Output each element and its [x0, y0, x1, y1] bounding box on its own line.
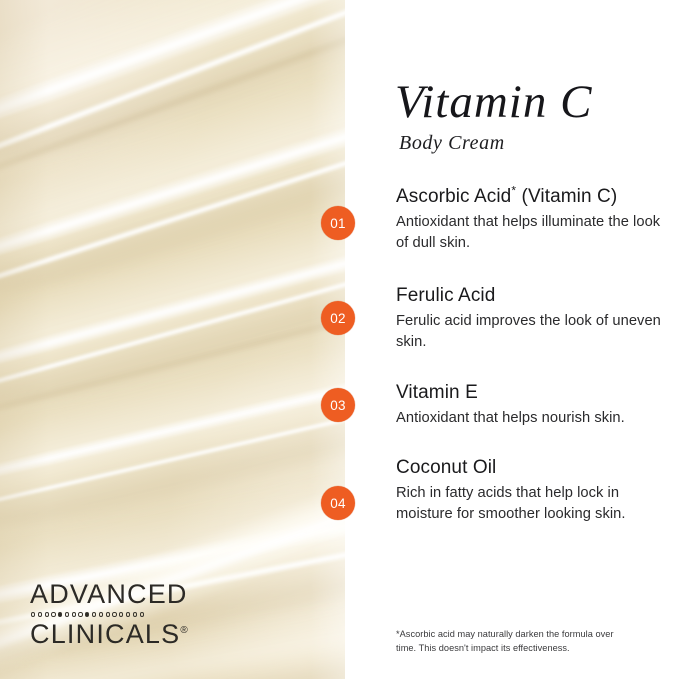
ingredient-description-01: Antioxidant that helps illuminate the lo… [396, 212, 676, 254]
ingredient-title-text-01: Ascorbic Acid [396, 186, 511, 207]
brand-logo-dot-divider [31, 611, 188, 618]
ingredient-title-suffix-01: (Vitamin C) [516, 186, 617, 207]
logo-dot-filled [85, 612, 89, 616]
logo-dot [133, 612, 137, 616]
logo-dot [92, 612, 96, 616]
logo-dot [31, 612, 35, 616]
product-title-block: Vitamin C Body Cream [395, 78, 592, 155]
panel-vignette [0, 0, 345, 679]
ingredient-title-text-03: Vitamin E [396, 382, 478, 403]
brand-logo-line2: CLINICALS [30, 619, 180, 649]
ingredient-badge-02: 02 [321, 301, 355, 335]
logo-dot [126, 612, 130, 616]
ingredient-title-text-02: Ferulic Acid [396, 285, 495, 306]
ingredient-item-04: Coconut Oil Rich in fatty acids that hel… [396, 457, 676, 525]
ingredient-description-03: Antioxidant that helps nourish skin. [396, 408, 676, 429]
ingredient-title-text-04: Coconut Oil [396, 457, 496, 478]
ingredient-item-03: Vitamin E Antioxidant that helps nourish… [396, 382, 676, 429]
ingredient-title-01: Ascorbic Acid* (Vitamin C) [396, 186, 676, 208]
ingredient-badge-04: 04 [321, 486, 355, 520]
ingredient-item-01: Ascorbic Acid* (Vitamin C) Antioxidant t… [396, 186, 676, 254]
footnote-text: *Ascorbic acid may naturally darken the … [396, 628, 636, 656]
logo-dot [78, 612, 82, 616]
ingredient-title-04: Coconut Oil [396, 457, 676, 479]
logo-dot [38, 612, 42, 616]
brand-logo: ADVANCED CLINICALS® [30, 581, 188, 648]
logo-dot [119, 612, 123, 616]
logo-dot-filled [58, 612, 62, 616]
cream-texture-image: ADVANCED CLINICALS® [0, 0, 345, 679]
logo-dot [65, 612, 69, 616]
logo-dot [140, 612, 144, 616]
logo-dot [72, 612, 76, 616]
ingredient-description-04: Rich in fatty acids that help lock in mo… [396, 483, 676, 525]
page-title: Vitamin C [395, 78, 592, 127]
ingredient-item-02: Ferulic Acid Ferulic acid improves the l… [396, 285, 676, 353]
ingredient-title-02: Ferulic Acid [396, 285, 676, 307]
logo-dot [45, 612, 49, 616]
logo-dot [99, 612, 103, 616]
page-subtitle: Body Cream [399, 132, 592, 155]
logo-dot [106, 612, 110, 616]
product-info-graphic: ADVANCED CLINICALS® [0, 0, 679, 679]
logo-dot [112, 612, 116, 616]
ingredient-badge-03: 03 [321, 388, 355, 422]
registered-trademark-icon: ® [180, 625, 187, 636]
ingredient-description-02: Ferulic acid improves the look of uneven… [396, 311, 676, 353]
brand-logo-line2-wrap: CLINICALS® [30, 621, 188, 648]
ingredient-title-03: Vitamin E [396, 382, 676, 404]
logo-dot [51, 612, 55, 616]
brand-logo-line1: ADVANCED [30, 581, 188, 608]
ingredient-badge-01: 01 [321, 206, 355, 240]
